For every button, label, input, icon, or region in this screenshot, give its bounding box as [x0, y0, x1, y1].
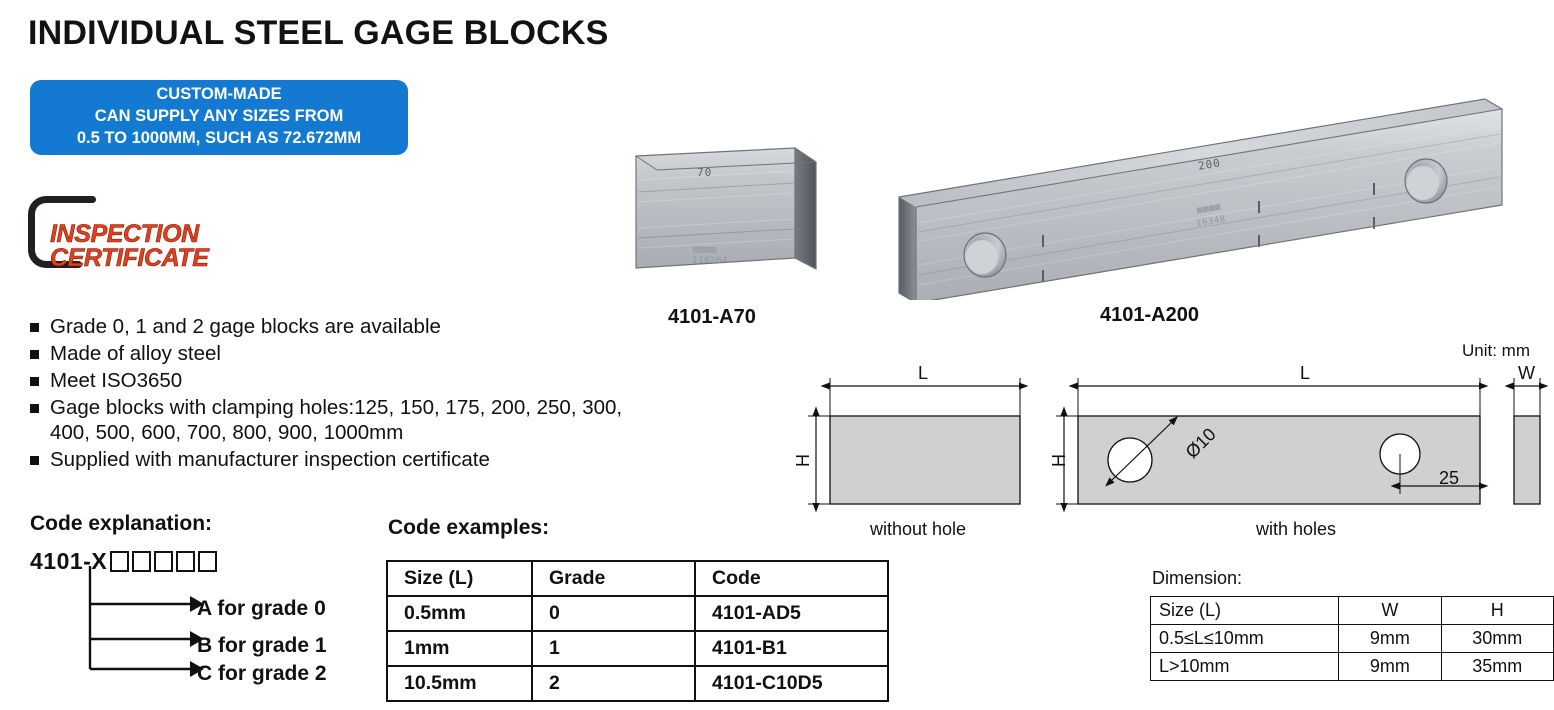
cell-size: 0.5≤L≤10mm	[1151, 625, 1339, 653]
dimension-label-L-with-holes: L	[1300, 363, 1310, 384]
column-header-h: H	[1441, 597, 1553, 625]
drawing-caption-without-hole: without hole	[870, 519, 966, 540]
product-caption-a70: 4101-A70	[668, 306, 756, 329]
branch-label-grade-1: B for grade 1	[197, 634, 327, 658]
inspection-certificate-logo: INSPECTION CERTIFICATE	[28, 196, 268, 278]
dimension-label-L-without-hole: L	[918, 363, 928, 384]
product-photo-gage-block-200	[885, 85, 1510, 300]
dimension-table-title: Dimension:	[1152, 568, 1242, 589]
column-header-w: W	[1339, 597, 1441, 625]
technical-drawings	[800, 358, 1554, 518]
feature-text: Gage blocks with clamping holes:125, 150…	[50, 395, 635, 445]
dimension-label-W-side-view: W	[1518, 363, 1535, 384]
feature-text: Supplied with manufacturer inspection ce…	[50, 447, 490, 472]
cell-code: 4101-AD5	[695, 596, 888, 631]
branch-label-grade-2: C for grade 2	[197, 662, 327, 686]
cell-grade: 2	[532, 666, 695, 701]
table-header-row: Size (L) Grade Code	[387, 561, 888, 596]
cell-code: 4101-B1	[695, 631, 888, 666]
bullet-square-icon	[30, 456, 39, 465]
list-item: Gage blocks with clamping holes:125, 150…	[30, 395, 650, 445]
bracket-top-arm-icon	[64, 196, 96, 203]
code-branch-diagram	[86, 566, 206, 681]
code-examples-table: Size (L) Grade Code 0.5mm 0 4101-AD5 1mm…	[386, 560, 889, 702]
cell-w: 9mm	[1339, 653, 1441, 681]
branch-label-grade-0: A for grade 0	[197, 597, 326, 621]
bullet-square-icon	[30, 350, 39, 359]
list-item: Grade 0, 1 and 2 gage blocks are availab…	[30, 314, 650, 339]
cell-size: L>10mm	[1151, 653, 1339, 681]
bullet-square-icon	[30, 377, 39, 386]
table-row: 1mm 1 4101-B1	[387, 631, 888, 666]
drawing-caption-with-holes: with holes	[1256, 519, 1336, 540]
cell-h: 30mm	[1441, 625, 1553, 653]
column-header-grade: Grade	[532, 561, 695, 596]
list-item: Made of alloy steel	[30, 341, 650, 366]
product-caption-a200: 4101-A200	[1100, 304, 1199, 327]
feature-list: Grade 0, 1 and 2 gage blocks are availab…	[30, 314, 650, 474]
badge-line-2: CAN SUPPLY ANY SIZES FROM	[95, 106, 343, 128]
badge-line-1: CUSTOM-MADE	[156, 84, 281, 106]
engraved-brand-mark: ▨▨▨▨	[693, 245, 717, 255]
feature-text: Made of alloy steel	[50, 341, 221, 366]
bullet-square-icon	[30, 404, 39, 413]
custom-made-badge: CUSTOM-MADE CAN SUPPLY ANY SIZES FROM 0.…	[30, 80, 408, 155]
dimension-label-edge-distance: 25	[1439, 468, 1459, 489]
cell-size: 1mm	[387, 631, 532, 666]
dimension-label-H-with-holes: H	[1049, 454, 1070, 467]
table-row: L>10mm 9mm 35mm	[1151, 653, 1554, 681]
engraved-serial-label: 110264	[692, 256, 728, 266]
cell-code: 4101-C10D5	[695, 666, 888, 701]
inspection-logo-word-2: CERTIFICATE	[50, 246, 209, 271]
cell-grade: 0	[532, 596, 695, 631]
feature-text: Meet ISO3650	[50, 368, 182, 393]
table-row: 0.5mm 0 4101-AD5	[387, 596, 888, 631]
dimension-table: Size (L) W H 0.5≤L≤10mm 9mm 30mm L>10mm …	[1150, 596, 1554, 681]
column-header-size: Size (L)	[387, 561, 532, 596]
dimension-label-H-without-hole: H	[793, 454, 814, 467]
badge-line-3: 0.5 TO 1000MM, SUCH AS 72.672MM	[77, 128, 361, 150]
feature-text: Grade 0, 1 and 2 gage blocks are availab…	[50, 314, 441, 339]
bullet-square-icon	[30, 323, 39, 332]
cell-h: 35mm	[1441, 653, 1553, 681]
cell-size: 10.5mm	[387, 666, 532, 701]
engraved-size-label: 70	[697, 166, 712, 179]
code-explanation-title: Code explanation:	[30, 512, 212, 536]
list-item: Supplied with manufacturer inspection ce…	[30, 447, 650, 472]
cell-grade: 1	[532, 631, 695, 666]
table-row: 0.5≤L≤10mm 9mm 30mm	[1151, 625, 1554, 653]
page-title: INDIVIDUAL STEEL GAGE BLOCKS	[28, 14, 609, 53]
column-header-size: Size (L)	[1151, 597, 1339, 625]
table-header-row: Size (L) W H	[1151, 597, 1554, 625]
column-header-code: Code	[695, 561, 888, 596]
code-examples-title: Code examples:	[388, 516, 549, 540]
cell-size: 0.5mm	[387, 596, 532, 631]
list-item: Meet ISO3650	[30, 368, 650, 393]
table-row: 10.5mm 2 4101-C10D5	[387, 666, 888, 701]
product-photo-gage-block-70	[620, 140, 840, 295]
cell-w: 9mm	[1339, 625, 1441, 653]
